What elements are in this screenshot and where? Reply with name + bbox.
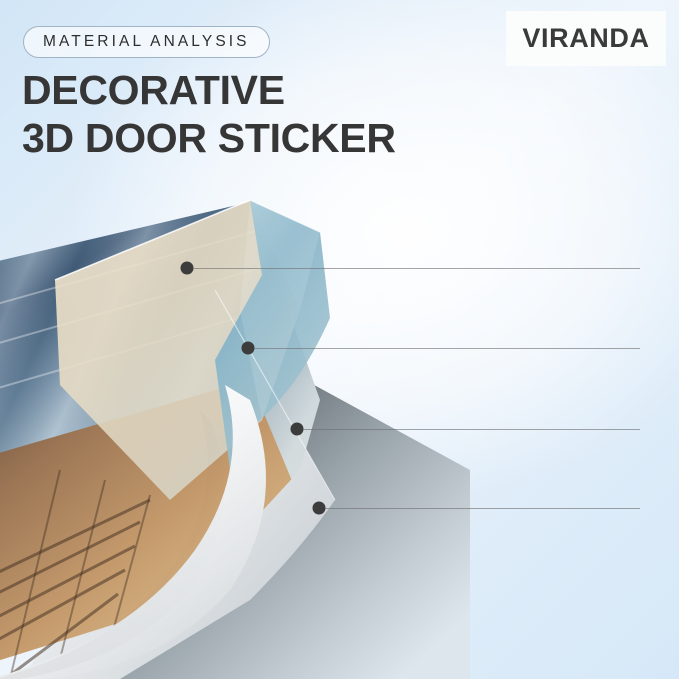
leader-line-layer-4 [325,508,640,509]
leader-line-layer-1 [193,268,640,269]
leader-dot-layer-3 [291,423,304,436]
sticker-illustration [0,170,470,679]
badge-label: MATERIAL ANALYSIS [43,33,250,51]
brand-logo-box: VIRANDA [507,12,665,65]
material-analysis-infographic: MATERIAL ANALYSIS DECORATIVE 3D DOOR STI… [0,0,679,679]
leader-line-layer-3 [303,429,640,430]
page-title: DECORATIVE 3D DOOR STICKER [22,66,492,162]
leader-dot-layer-4 [313,502,326,515]
sticker-artwork [0,170,470,679]
page-title-line-1: DECORATIVE [22,66,492,114]
leader-dot-layer-1 [181,262,194,275]
brand-name: VIRANDA [522,23,649,54]
leader-dot-layer-2 [242,342,255,355]
material-analysis-badge: MATERIAL ANALYSIS [23,26,270,58]
page-title-line-2: 3D DOOR STICKER [22,114,492,162]
leader-line-layer-2 [254,348,640,349]
